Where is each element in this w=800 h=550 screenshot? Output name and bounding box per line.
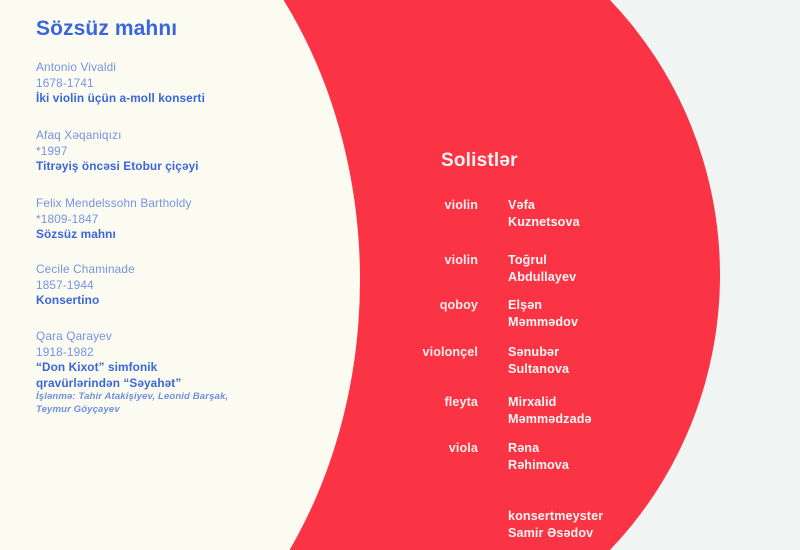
work-item-2: Afaq Xəqaniqızı *1997 Titrəyiş öncəsi Et…: [36, 128, 346, 175]
soloist-first-name: Elşən: [508, 297, 658, 314]
piece-title: Konsertino: [36, 293, 346, 309]
soloist-row: fleyta Mirxalid Məmmədzadə: [340, 394, 570, 428]
soloist-last-name: Məmmədzadə: [508, 411, 658, 428]
composer-name: Qara Qarayev: [36, 329, 346, 345]
soloist-row: violin Vəfa Kuznetsova: [340, 197, 570, 231]
soloist-last-name: Sultanova: [508, 361, 658, 378]
composer-name: Antonio Vivaldi: [36, 60, 346, 76]
work-item-5: Qara Qarayev 1918-1982 “Don Kixot” simfo…: [36, 329, 346, 416]
soloist-row: violonçel Sənubər Sultanova: [340, 344, 570, 378]
arrangement-credit-line2: Teymur Göyçayev: [36, 404, 346, 417]
concertmaster-name: Samir Əsədov: [508, 525, 688, 542]
soloist-name: Toğrul Abdullayev: [508, 252, 658, 285]
piece-title: İki violin üçün a-moll konserti: [36, 91, 346, 107]
soloist-last-name: Abdullayev: [508, 269, 658, 286]
soloist-last-name: Rəhimova: [508, 457, 658, 474]
poster-canvas: Sözsüz mahnı Antonio Vivaldi 1678-1741 İ…: [0, 0, 800, 550]
soloist-instrument: viola: [340, 440, 478, 457]
soloist-name: Vəfa Kuznetsova: [508, 197, 658, 230]
composer-years: *1997: [36, 144, 346, 160]
soloist-name: Elşən Məmmədov: [508, 297, 658, 330]
composer-years: 1918-1982: [36, 345, 346, 361]
work-item-3: Felix Mendelssohn Bartholdy *1809-1847 S…: [36, 196, 346, 243]
soloist-instrument: violin: [340, 197, 478, 214]
composer-name: Felix Mendelssohn Bartholdy: [36, 196, 346, 212]
work-item-1: Antonio Vivaldi 1678-1741 İki violin üçü…: [36, 60, 346, 107]
piece-title: Sözsüz mahnı: [36, 227, 346, 243]
soloists-heading: Solistlər: [441, 150, 518, 172]
composer-years: 1678-1741: [36, 76, 346, 92]
soloist-instrument: qoboy: [340, 297, 478, 314]
composer-years: 1857-1944: [36, 278, 346, 294]
work-item-4: Cecile Chaminade 1857-1944 Konsertino: [36, 262, 346, 309]
soloist-name: Rəna Rəhimova: [508, 440, 658, 473]
piece-title-line1: “Don Kixot” simfonik: [36, 360, 346, 376]
soloist-row: viola Rəna Rəhimova: [340, 440, 570, 474]
soloist-row: violin Toğrul Abdullayev: [340, 252, 570, 286]
soloist-name: Sənubər Sultanova: [508, 344, 658, 377]
composer-name: Afaq Xəqaniqızı: [36, 128, 346, 144]
piece-title-line2: qravürlərindən “Səyahət”: [36, 376, 346, 392]
composer-name: Cecile Chaminade: [36, 262, 346, 278]
soloist-instrument: fleyta: [340, 394, 478, 411]
soloist-first-name: Mirxalid: [508, 394, 658, 411]
soloist-last-name: Kuznetsova: [508, 214, 658, 231]
soloist-instrument: violonçel: [340, 344, 478, 361]
soloist-name: Mirxalid Məmmədzadə: [508, 394, 658, 427]
soloist-last-name: Məmmədov: [508, 314, 658, 331]
soloist-first-name: Toğrul: [508, 252, 658, 269]
soloist-first-name: Sənubər: [508, 344, 658, 361]
soloist-first-name: Vəfa: [508, 197, 658, 214]
concertmaster-block: konsertmeyster Samir Əsədov: [508, 508, 688, 541]
composer-years: *1809-1847: [36, 212, 346, 228]
concertmaster-role: konsertmeyster: [508, 508, 688, 525]
page-title: Sözsüz mahnı: [36, 17, 177, 41]
soloist-instrument: violin: [340, 252, 478, 269]
arrangement-credit-line1: İşlənmə: Tahir Atakişiyev, Leonid Barşak…: [36, 391, 346, 404]
piece-title: Titrəyiş öncəsi Etobur çiçəyi: [36, 159, 346, 175]
soloist-row: qoboy Elşən Məmmədov: [340, 297, 570, 331]
soloist-first-name: Rəna: [508, 440, 658, 457]
